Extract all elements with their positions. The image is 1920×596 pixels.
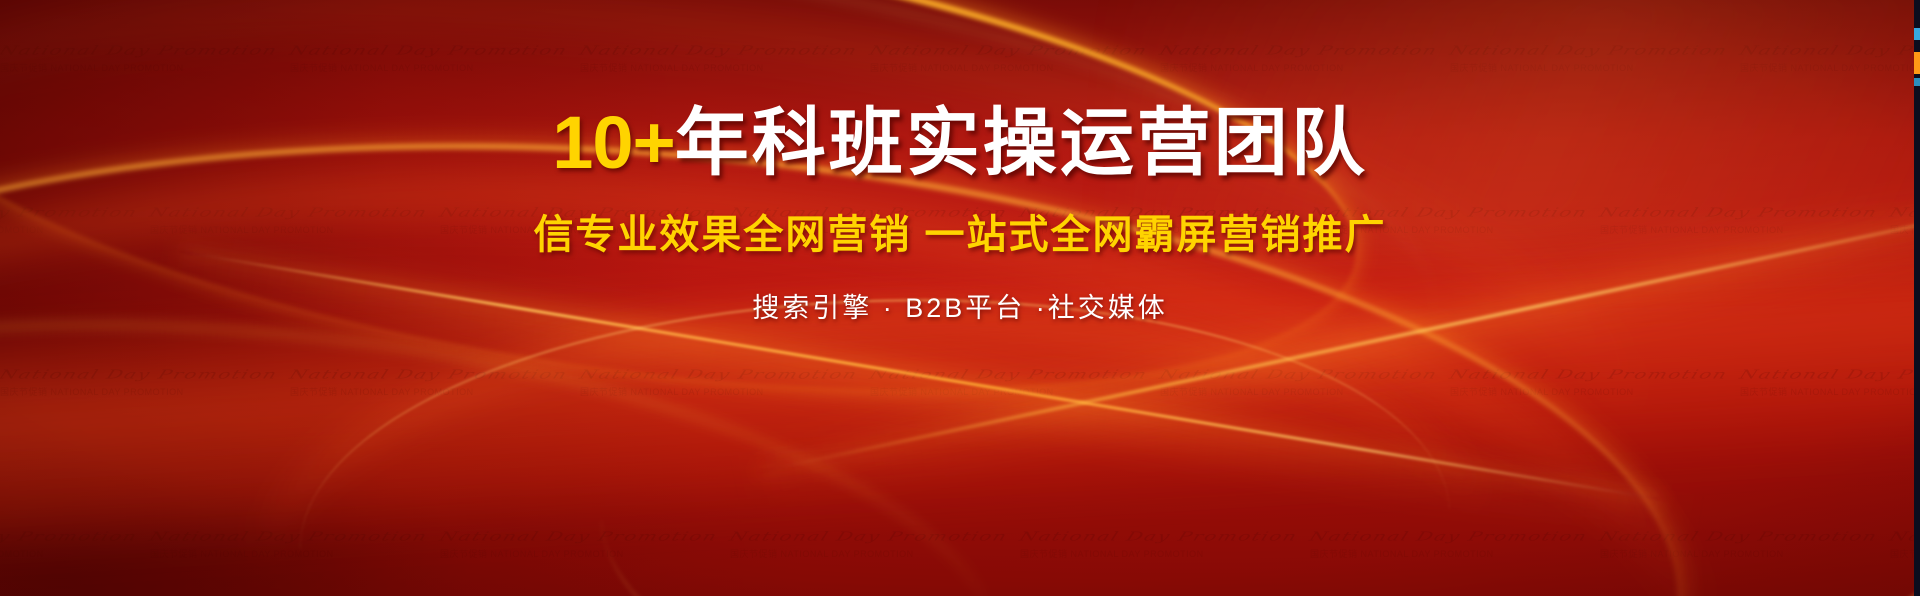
edge-artifact-orange xyxy=(1914,52,1920,74)
edge-artifact-sliver xyxy=(1914,0,1920,596)
headline-number: 10+ xyxy=(552,101,675,184)
promo-banner: National Day Promotion国庆节促销 NATIONAL DAY… xyxy=(0,0,1920,596)
banner-tagline: 搜索引擎 · B2B平台 ·社交媒体 xyxy=(0,286,1920,325)
banner-content: 10+年科班实操运营团队 信专业效果全网营销 一站式全网霸屏营销推广 搜索引擎 … xyxy=(0,106,1920,325)
edge-artifact-blue-top xyxy=(1914,28,1920,40)
edge-artifact-blue-bottom xyxy=(1914,78,1920,86)
banner-subtitle: 信专业效果全网营销 一站式全网霸屏营销推广 xyxy=(0,202,1920,260)
headline-text: 年科班实操运营团队 xyxy=(675,101,1368,184)
page-title: 10+年科班实操运营团队 xyxy=(0,106,1920,180)
